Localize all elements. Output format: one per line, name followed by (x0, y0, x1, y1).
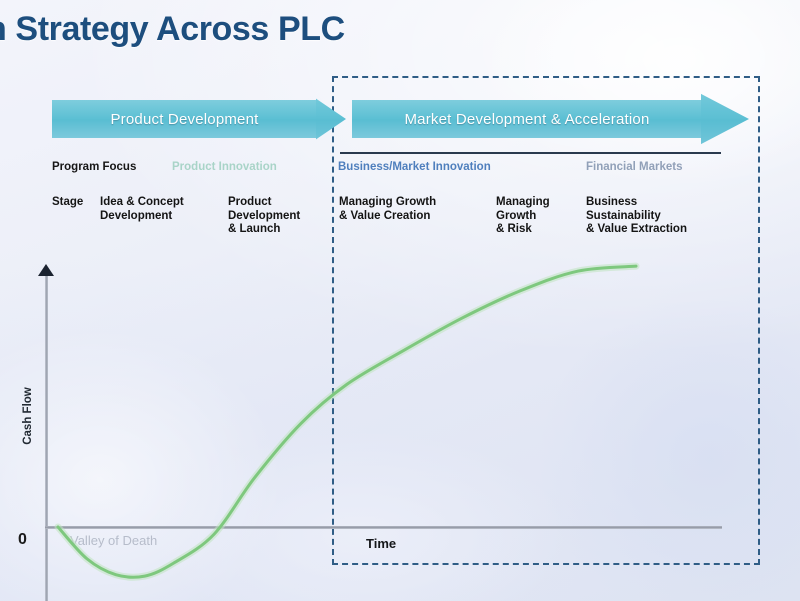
slide-canvas: n Strategy Across PLC Product Developmen… (0, 0, 800, 601)
zero-baseline (45, 526, 722, 529)
valley-of-death-annotation: Valley of Death (70, 533, 157, 548)
cash-flow-curve (0, 0, 800, 601)
cash-flow-chart: Cash Flow 0 Valley of Death Time (0, 0, 800, 601)
y-axis-line (45, 274, 48, 601)
x-axis-label: Time (366, 536, 396, 551)
y-axis-arrow-icon (38, 264, 54, 276)
y-axis-zero-tick: 0 (18, 531, 27, 549)
y-axis-label: Cash Flow (22, 376, 34, 456)
